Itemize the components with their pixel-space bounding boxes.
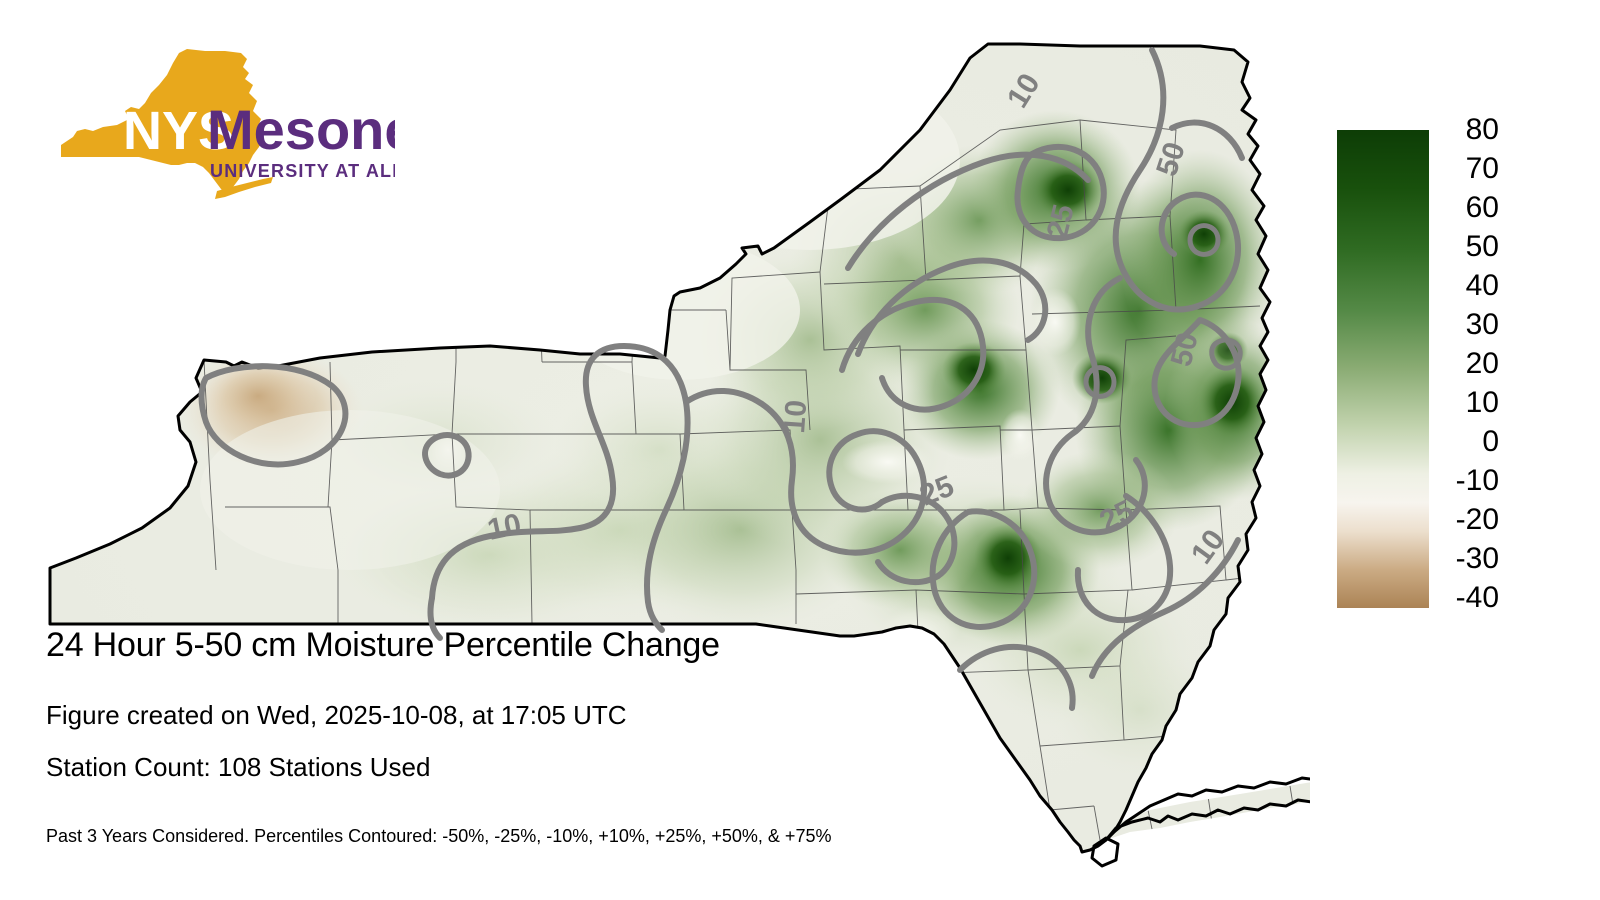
colorbar-tick: -40 [1437, 583, 1499, 613]
colorbar-tick: 70 [1437, 154, 1499, 184]
colorbar-tick: 60 [1437, 193, 1499, 223]
colorbar-tick-labels: 80 70 60 50 40 30 20 10 0 -10 -20 -30 -4… [1437, 110, 1557, 630]
figure-footnote: Past 3 Years Considered. Percentiles Con… [46, 826, 831, 847]
colorbar-tick: -30 [1437, 544, 1499, 574]
colorbar-tick: -20 [1437, 505, 1499, 535]
colorbar-tick: 30 [1437, 310, 1499, 340]
figure-canvas: 10 25 50 50 10 25 25 10 10 NYS Mesonet U… [0, 0, 1600, 900]
figure-created-text: Figure created on Wed, 2025-10-08, at 17… [46, 700, 627, 731]
colorbar-tick: 50 [1437, 232, 1499, 262]
contour-label: 10 [778, 399, 813, 435]
colorbar [1337, 130, 1429, 608]
nys-mesonet-logo: NYS Mesonet UNIVERSITY AT ALBANY [55, 45, 395, 205]
colorbar-tick: 10 [1437, 388, 1499, 418]
colorbar-tick: 80 [1437, 115, 1499, 145]
logo-text-tagline: UNIVERSITY AT ALBANY [210, 161, 395, 181]
figure-title: 24 Hour 5-50 cm Moisture Percentile Chan… [46, 626, 720, 665]
logo-text-mesonet: Mesonet [207, 98, 395, 161]
station-count-text: Station Count: 108 Stations Used [46, 752, 430, 783]
colorbar-tick: 40 [1437, 271, 1499, 301]
colorbar-tick: 0 [1437, 427, 1499, 457]
colorbar-tick: 20 [1437, 349, 1499, 379]
colorbar-tick: -10 [1437, 466, 1499, 496]
contour-label: 10 [485, 508, 525, 547]
